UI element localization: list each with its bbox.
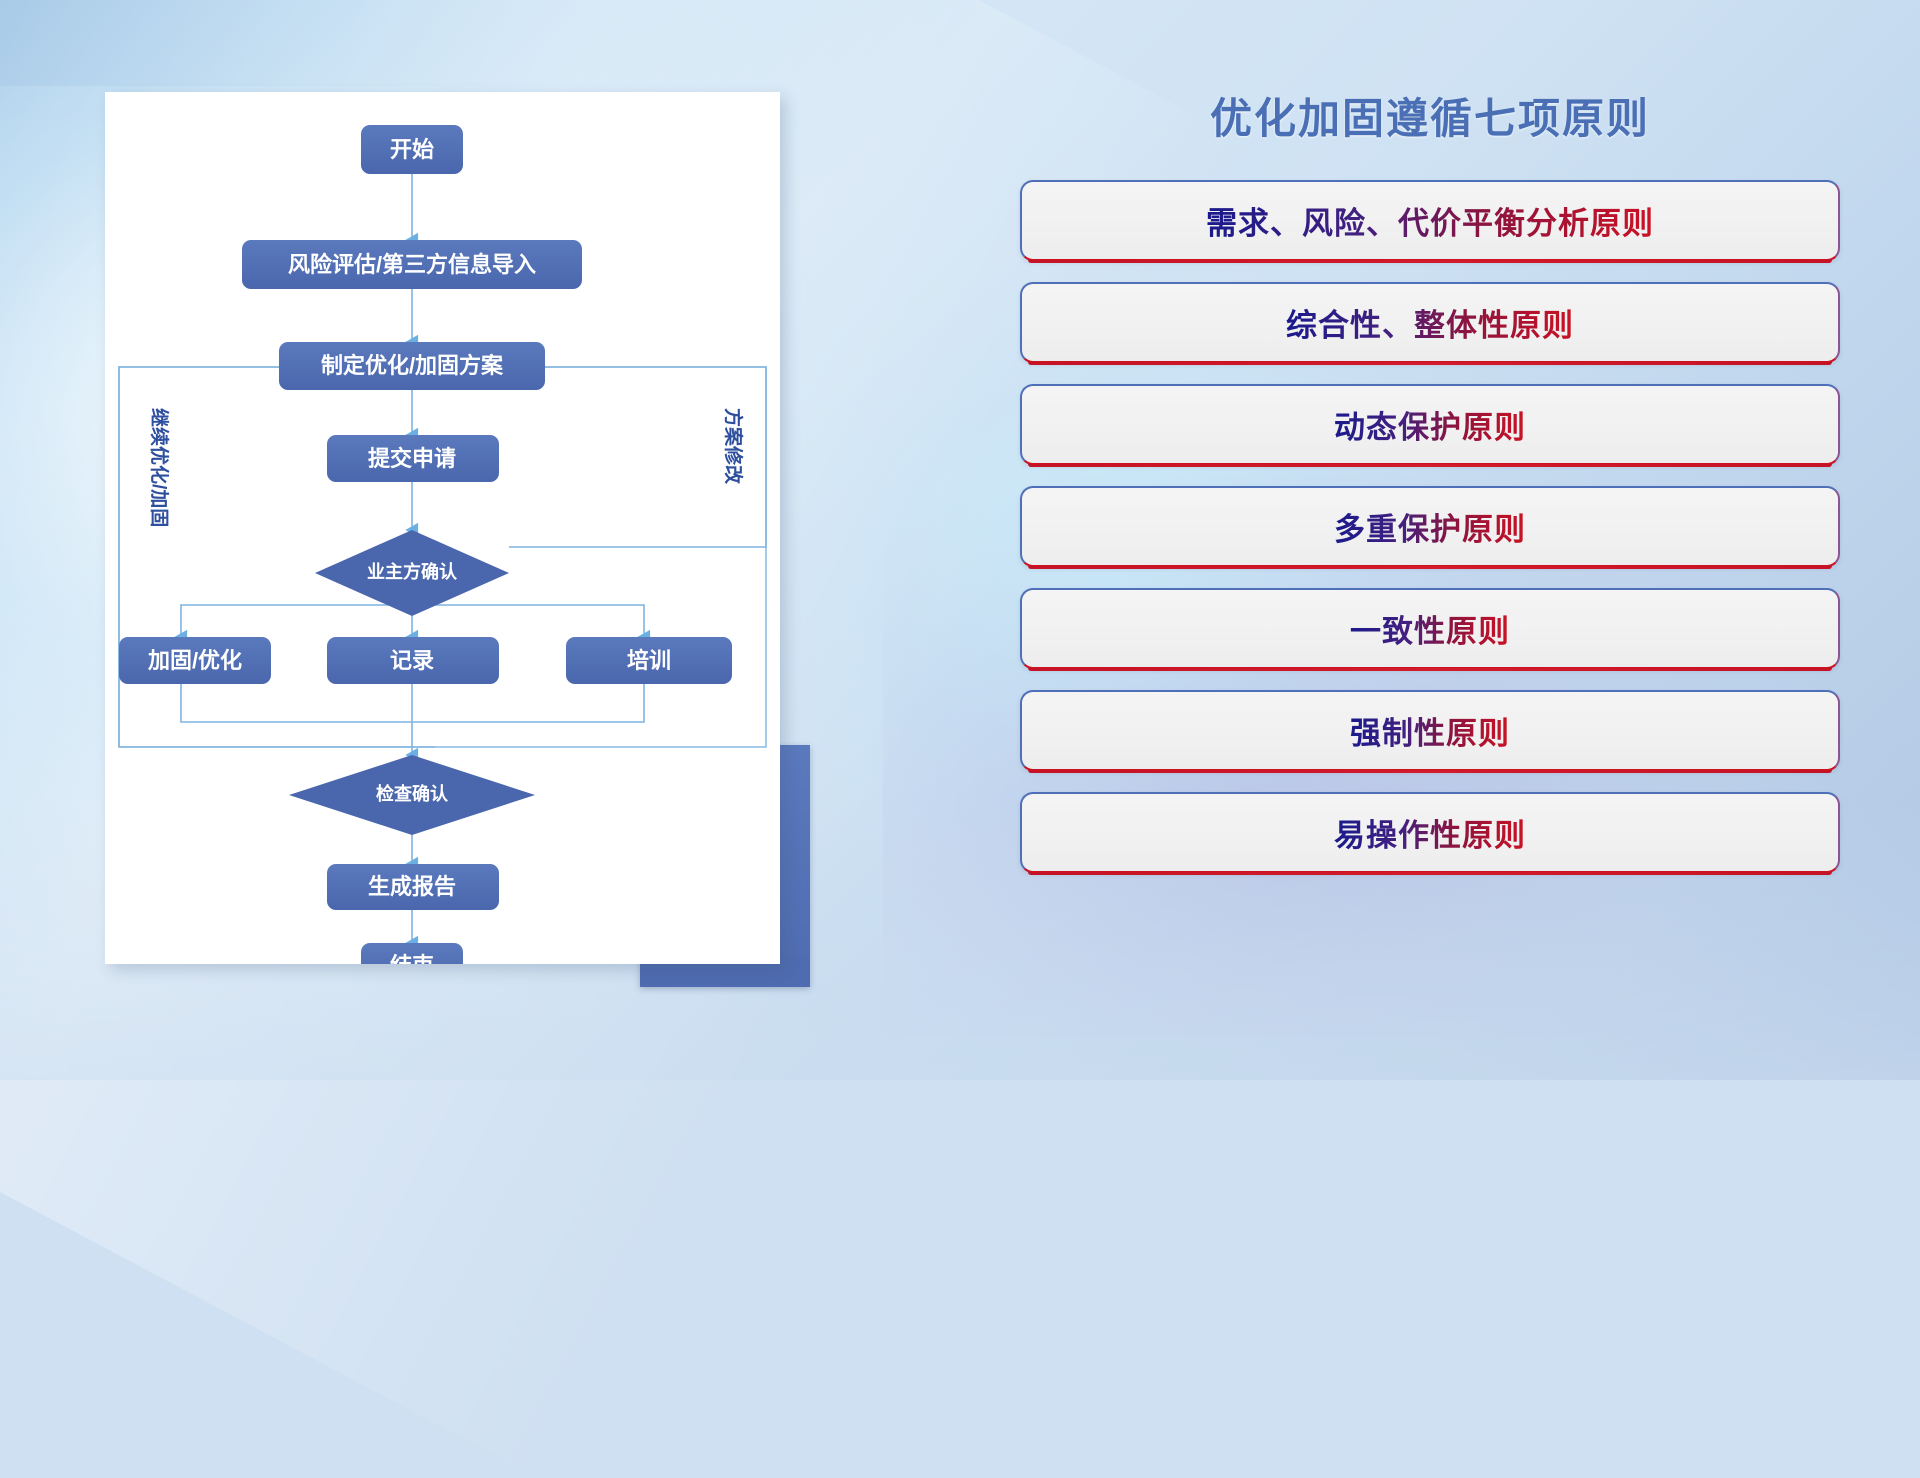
flow-node-owner-confirm-label: 业主方确认 bbox=[367, 561, 458, 582]
edge-reinforce-join bbox=[181, 684, 412, 722]
flow-node-check-confirm[interactable]: 检查确认 bbox=[289, 755, 535, 835]
flow-node-report[interactable]: 生成报告 bbox=[327, 864, 499, 910]
edge-label-plan-revision: 方案修改 bbox=[722, 408, 745, 485]
flow-node-training-label: 培训 bbox=[627, 648, 671, 673]
flow-node-end-label: 结束 bbox=[390, 953, 435, 964]
principle-card-5[interactable]: 一致性原则 bbox=[1020, 588, 1840, 669]
flow-node-submit[interactable]: 提交申请 bbox=[327, 435, 499, 482]
flow-node-risk-assessment-label: 风险评估/第三方信息导入 bbox=[288, 252, 536, 277]
edge-label-continue-optimize: 继续优化/加固 bbox=[148, 408, 171, 527]
edge-owner-to-training bbox=[412, 605, 644, 637]
principle-label-1: 需求、风险、代价平衡分析原则 bbox=[1206, 198, 1654, 243]
principle-card-3[interactable]: 动态保护原则 bbox=[1020, 384, 1840, 465]
flow-node-record[interactable]: 记录 bbox=[327, 637, 499, 684]
flow-node-owner-confirm[interactable]: 业主方确认 bbox=[315, 530, 509, 616]
flow-node-start[interactable]: 开始 bbox=[361, 125, 463, 174]
flow-node-check-confirm-label: 检查确认 bbox=[376, 783, 449, 804]
principle-card-7[interactable]: 易操作性原则 bbox=[1020, 792, 1840, 873]
flowchart-card: 开始 风险评估/第三方信息导入 制定优化/加固方案 提交申请 业主方确认 加固/… bbox=[105, 92, 780, 964]
principle-label-6: 强制性原则 bbox=[1350, 708, 1510, 753]
flow-node-submit-label: 提交申请 bbox=[368, 446, 456, 471]
flow-node-end[interactable]: 结束 bbox=[361, 943, 463, 964]
flow-node-start-label: 开始 bbox=[390, 137, 434, 162]
principle-card-6[interactable]: 强制性原则 bbox=[1020, 690, 1840, 771]
principle-card-2[interactable]: 综合性、整体性原则 bbox=[1020, 282, 1840, 363]
principle-label-2: 综合性、整体性原则 bbox=[1286, 300, 1574, 345]
flow-node-plan-label: 制定优化/加固方案 bbox=[321, 353, 504, 378]
flow-node-training[interactable]: 培训 bbox=[566, 637, 732, 684]
flow-node-reinforce[interactable]: 加固/优化 bbox=[119, 637, 271, 684]
page-title: 优化加固遵循七项原则 bbox=[1020, 96, 1840, 142]
flow-node-plan[interactable]: 制定优化/加固方案 bbox=[279, 342, 545, 390]
principles-panel: 优化加固遵循七项原则 需求、风险、代价平衡分析原则 综合性、整体性原则 动态保护… bbox=[1020, 96, 1840, 1016]
flowchart-diagram: 开始 风险评估/第三方信息导入 制定优化/加固方案 提交申请 业主方确认 加固/… bbox=[105, 92, 780, 964]
principle-label-7: 易操作性原则 bbox=[1334, 810, 1526, 855]
principle-label-4: 多重保护原则 bbox=[1334, 504, 1526, 549]
flow-node-risk-assessment[interactable]: 风险评估/第三方信息导入 bbox=[242, 240, 582, 289]
principle-card-4[interactable]: 多重保护原则 bbox=[1020, 486, 1840, 567]
flow-node-reinforce-label: 加固/优化 bbox=[147, 648, 242, 673]
principle-card-1[interactable]: 需求、风险、代价平衡分析原则 bbox=[1020, 180, 1840, 261]
edge-training-join bbox=[412, 684, 644, 722]
flow-node-report-label: 生成报告 bbox=[368, 874, 456, 899]
flow-node-record-label: 记录 bbox=[390, 648, 434, 673]
principle-label-3: 动态保护原则 bbox=[1334, 402, 1526, 447]
principle-label-5: 一致性原则 bbox=[1350, 606, 1510, 651]
